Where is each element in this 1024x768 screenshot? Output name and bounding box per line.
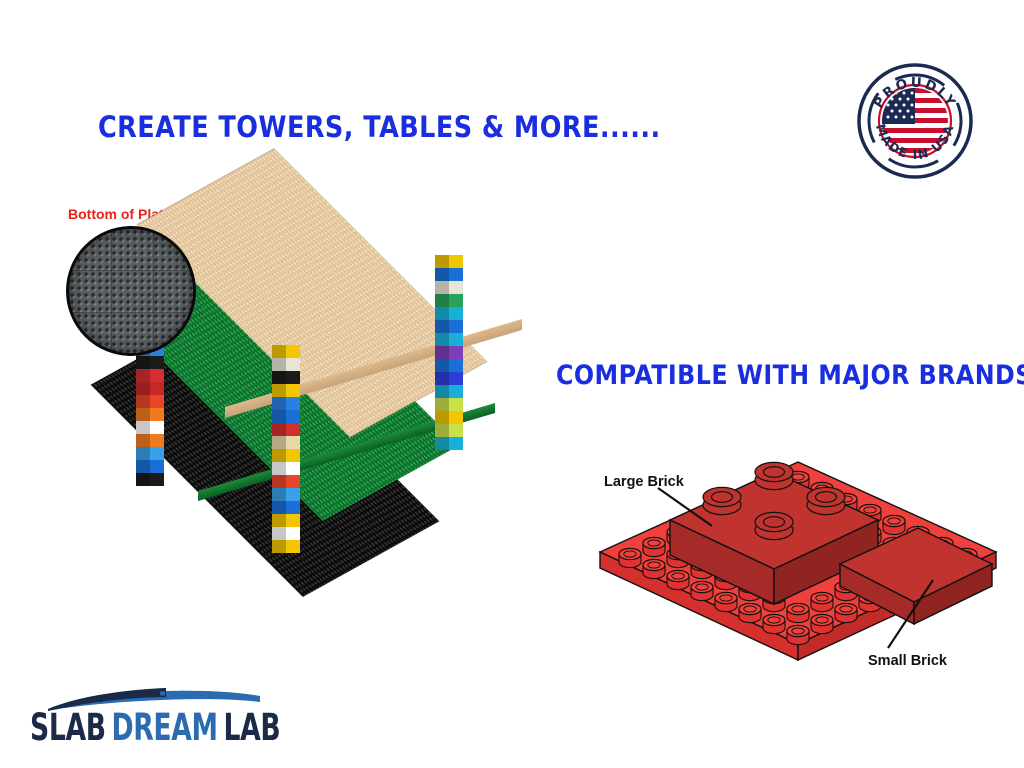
brick — [435, 372, 463, 385]
brick-face-right — [150, 395, 164, 408]
brick-face-left — [435, 398, 449, 411]
brick-face-right — [150, 369, 164, 382]
brick-face-right — [286, 384, 300, 397]
brick-face-right — [286, 358, 300, 371]
brick — [272, 527, 300, 540]
brick — [136, 421, 164, 434]
brick-face-left — [435, 281, 449, 294]
brick — [435, 385, 463, 398]
brick-face-right — [286, 410, 300, 423]
brick-face-right — [150, 421, 164, 434]
brick — [435, 411, 463, 424]
brick-face-left — [272, 423, 286, 436]
brick-face-right — [286, 501, 300, 514]
brick — [272, 371, 300, 384]
brick-face-right — [286, 436, 300, 449]
brick-face-left — [435, 255, 449, 268]
large-brick-label: Large Brick — [604, 474, 684, 490]
brick-face-right — [286, 540, 300, 553]
brick-face-right — [449, 255, 463, 268]
brick-face-left — [272, 488, 286, 501]
brick-face-left — [136, 382, 150, 395]
brick-face-right — [286, 527, 300, 540]
brick-face-right — [150, 460, 164, 473]
brick — [272, 488, 300, 501]
brick-face-left — [435, 385, 449, 398]
brick-face-left — [272, 436, 286, 449]
brick — [272, 358, 300, 371]
brick — [272, 514, 300, 527]
brick — [136, 356, 164, 369]
brick-face-right — [449, 437, 463, 450]
brick-column-middle — [272, 345, 300, 553]
brick-face-left — [136, 460, 150, 473]
brick — [435, 346, 463, 359]
brick — [272, 410, 300, 423]
brick-face-right — [449, 333, 463, 346]
brick — [136, 473, 164, 486]
brick — [136, 460, 164, 473]
brick-face-left — [136, 356, 150, 369]
brick-face-left — [272, 475, 286, 488]
brick — [272, 345, 300, 358]
brick — [136, 395, 164, 408]
brick — [272, 462, 300, 475]
brick-face-left — [136, 408, 150, 421]
brick-face-right — [150, 434, 164, 447]
brick-face-right — [449, 281, 463, 294]
brick-face-right — [449, 268, 463, 281]
brick-face-right — [150, 447, 164, 460]
brick-face-right — [150, 408, 164, 421]
brick-face-right — [286, 423, 300, 436]
brick-face-right — [286, 345, 300, 358]
headline-compatible-brands: COMPATIBLE WITH MAJOR BRANDS... — [556, 360, 1024, 391]
brick — [435, 268, 463, 281]
brick-face-left — [272, 449, 286, 462]
brick — [272, 436, 300, 449]
brick — [435, 437, 463, 450]
brick-face-left — [136, 421, 150, 434]
brick-face-left — [272, 462, 286, 475]
brick-face-left — [435, 437, 449, 450]
brick — [435, 281, 463, 294]
brick-face-left — [272, 358, 286, 371]
brick-face-left — [272, 410, 286, 423]
brick-face-right — [150, 382, 164, 395]
brick — [435, 255, 463, 268]
brick-face-right — [286, 462, 300, 475]
brick-face-right — [150, 356, 164, 369]
brick — [435, 294, 463, 307]
brick-face-right — [286, 397, 300, 410]
brick-face-left — [435, 294, 449, 307]
brick — [136, 434, 164, 447]
brick-face-left — [272, 501, 286, 514]
brick-face-left — [136, 369, 150, 382]
brick-face-left — [272, 345, 286, 358]
brick-face-right — [449, 411, 463, 424]
brick-face-left — [272, 527, 286, 540]
brick — [272, 384, 300, 397]
brick-column-right — [435, 255, 463, 450]
brick-face-left — [272, 540, 286, 553]
brick-face-left — [435, 320, 449, 333]
brick — [272, 423, 300, 436]
headline-create-towers: CREATE TOWERS, TABLES & MORE...... — [98, 110, 661, 144]
brick — [136, 408, 164, 421]
brick-face-left — [435, 333, 449, 346]
logo-wordmark: SLABDREAMLAB — [30, 706, 280, 749]
logo-word-lab: LAB — [224, 706, 281, 749]
brick — [272, 501, 300, 514]
brick — [272, 449, 300, 462]
brick — [272, 540, 300, 553]
brick — [136, 382, 164, 395]
made-in-usa-badge: PROUDLY MADE IN USA — [856, 62, 974, 180]
brick-face-right — [449, 424, 463, 437]
brick-face-right — [286, 371, 300, 384]
brick-face-left — [136, 434, 150, 447]
brick-face-left — [435, 359, 449, 372]
brick — [136, 447, 164, 460]
logo-word-slab: SLAB — [30, 706, 106, 749]
brick-face-right — [449, 359, 463, 372]
brick-face-right — [286, 449, 300, 462]
brick — [435, 320, 463, 333]
brick-face-right — [286, 488, 300, 501]
brick — [435, 359, 463, 372]
brick — [272, 475, 300, 488]
brick-face-left — [272, 397, 286, 410]
brick-face-right — [449, 320, 463, 333]
logo-word-dream: DREAM — [111, 706, 217, 749]
brick-face-right — [449, 346, 463, 359]
brick-face-left — [272, 514, 286, 527]
brick-face-left — [136, 447, 150, 460]
small-brick-label: Small Brick — [868, 653, 947, 669]
brick-face-right — [449, 294, 463, 307]
brick — [435, 333, 463, 346]
brick-face-left — [272, 371, 286, 384]
brick-face-left — [272, 384, 286, 397]
brick-face-right — [449, 372, 463, 385]
brand-logo: SLABDREAMLAB — [30, 688, 262, 750]
brick-face-right — [449, 398, 463, 411]
brick — [435, 398, 463, 411]
made-in-usa-badge-svg: PROUDLY MADE IN USA — [856, 62, 974, 180]
infographic-canvas: CREATE TOWERS, TABLES & MORE...... Botto… — [0, 0, 1024, 768]
brick-face-left — [136, 473, 150, 486]
brick — [435, 307, 463, 320]
magnifier-circle-icon — [66, 226, 196, 356]
brick-face-right — [150, 473, 164, 486]
brick-face-right — [286, 514, 300, 527]
brick — [136, 369, 164, 382]
brick-face-right — [449, 307, 463, 320]
brick-face-left — [136, 395, 150, 408]
brick-face-right — [449, 385, 463, 398]
brick-face-left — [435, 307, 449, 320]
brick-face-left — [435, 268, 449, 281]
brick-face-left — [435, 346, 449, 359]
brick — [435, 424, 463, 437]
brick — [272, 397, 300, 410]
brick-face-left — [435, 424, 449, 437]
brick-face-left — [435, 411, 449, 424]
brick-face-right — [286, 475, 300, 488]
brick-face-left — [435, 372, 449, 385]
